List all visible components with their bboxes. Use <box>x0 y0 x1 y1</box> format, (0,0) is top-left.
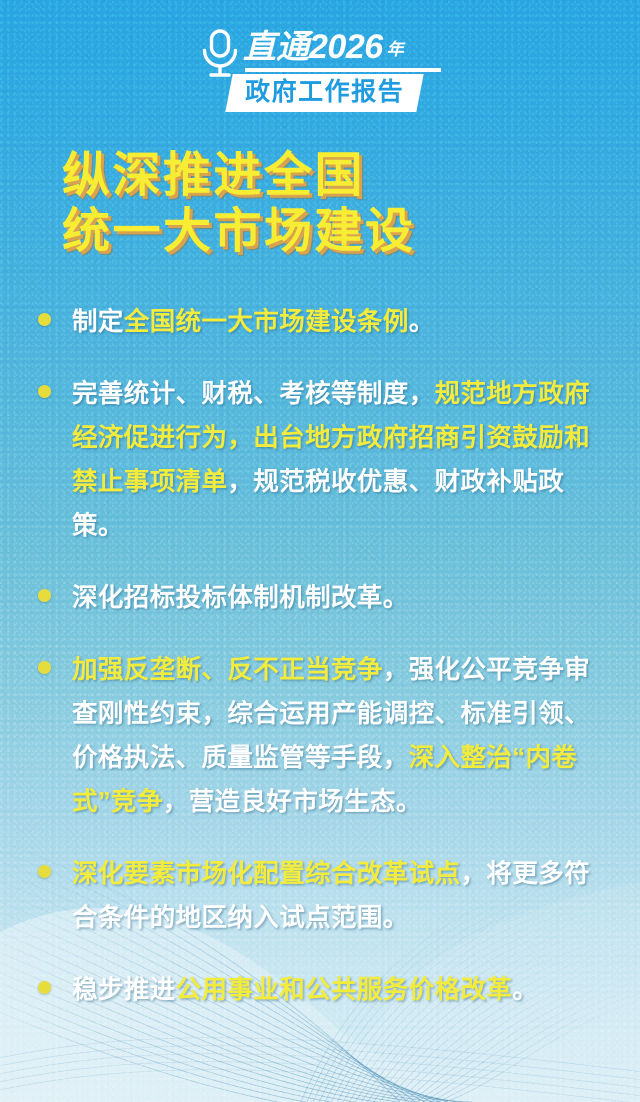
list-item: 深化要素市场化配置综合改革试点，将更多符合条件的地区纳入试点范围。 <box>34 852 612 940</box>
logo-title-prefix: 直通 <box>243 28 309 65</box>
bullet-dot-icon <box>38 865 51 878</box>
text-segment-plain: 。 <box>409 308 435 336</box>
text-segment-plain: 制定 <box>72 308 124 336</box>
poster-root: 直通2026年 政府工作报告 纵深推进全国 统一大市场建设 制定全国统一大市场建… <box>0 0 640 1102</box>
text-segment-highlight: 深化要素市场化配置综合改革试点 <box>72 860 461 888</box>
text-segment-plain: 完善统计、财税、考核等制度， <box>72 380 435 408</box>
header-logo: 直通2026年 政府工作报告 <box>0 24 640 124</box>
list-item: 制定全国统一大市场建设条例。 <box>34 300 612 344</box>
page-title-line-1: 纵深推进全国 <box>62 148 582 204</box>
list-item-text: 深化要素市场化配置综合改革试点，将更多符合条件的地区纳入试点范围。 <box>72 852 612 940</box>
text-segment-highlight: 公用事业和公共服务价格改革 <box>176 976 513 1004</box>
page-title-line-2: 统一大市场建设 <box>62 204 582 260</box>
text-segment-plain: ，营造良好市场生态。 <box>163 788 422 816</box>
text-segment-plain: 。 <box>512 976 538 1004</box>
policy-bullet-list: 制定全国统一大市场建设条例。完善统计、财税、考核等制度，规范地方政府经济促进行为… <box>34 300 612 1012</box>
list-item-text: 稳步推进公用事业和公共服务价格改革。 <box>72 968 612 1012</box>
logo-title-text: 直通2026年 <box>243 26 404 74</box>
logo-underline-rule <box>245 68 441 72</box>
text-segment-highlight: 全国统一大市场建设条例 <box>124 308 409 336</box>
list-item: 稳步推进公用事业和公共服务价格改革。 <box>34 968 612 1012</box>
list-item: 深化招标投标体制机制改革。 <box>34 576 612 620</box>
list-item-text: 加强反垄断、反不正当竞争，强化公平竞争审查刚性约束，综合运用产能调控、标准引领、… <box>72 648 612 824</box>
bullet-dot-icon <box>38 589 51 602</box>
list-item: 加强反垄断、反不正当竞争，强化公平竞争审查刚性约束，综合运用产能调控、标准引领、… <box>34 648 612 824</box>
report-badge-label: 政府工作报告 <box>245 78 404 107</box>
bullet-dot-icon <box>38 313 51 326</box>
bullet-dot-icon <box>38 981 51 994</box>
list-item-text: 完善统计、财税、考核等制度，规范地方政府经济促进行为，出台地方政府招商引资鼓励和… <box>72 372 612 548</box>
list-item: 完善统计、财税、考核等制度，规范地方政府经济促进行为，出台地方政府招商引资鼓励和… <box>34 372 612 548</box>
list-item-text: 深化招标投标体制机制改革。 <box>72 576 612 620</box>
text-segment-plain: 深化招标投标体制机制改革。 <box>72 584 409 612</box>
logo-year-number: 2026 <box>309 28 383 66</box>
logo-year-suffix: 年 <box>387 40 404 59</box>
text-segment-highlight: 加强反垄断、反不正当竞争 <box>72 656 383 684</box>
page-title: 纵深推进全国 统一大市场建设 <box>62 148 582 260</box>
bullet-dot-icon <box>38 385 51 398</box>
microphone-icon <box>197 28 243 78</box>
report-badge: 政府工作报告 <box>225 74 423 112</box>
text-segment-plain: 稳步推进 <box>72 976 176 1004</box>
bullet-dot-icon <box>38 661 51 674</box>
list-item-text: 制定全国统一大市场建设条例。 <box>72 300 612 344</box>
